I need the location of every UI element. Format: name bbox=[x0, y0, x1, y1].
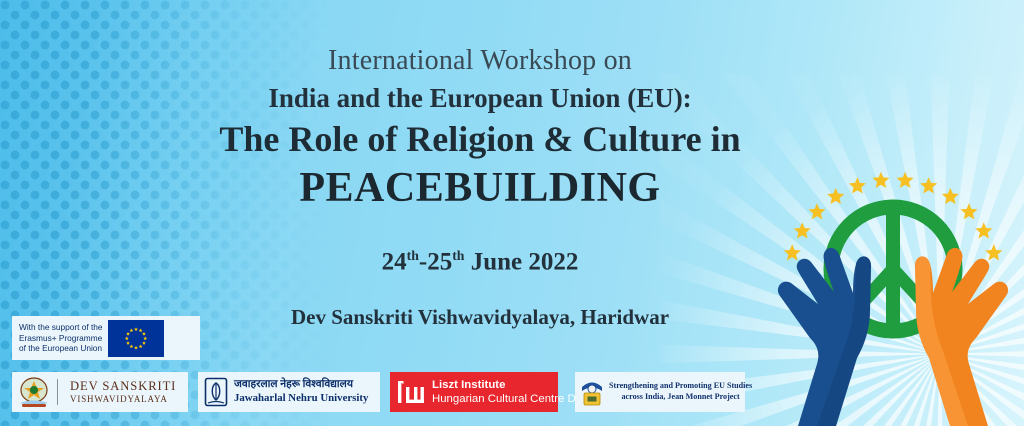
eu-support-line2: Erasmus+ Programme bbox=[19, 333, 102, 344]
emphasis-title: PEACEBUILDING bbox=[120, 163, 840, 213]
date-day-start: 24 bbox=[382, 248, 407, 275]
dev-sanskriti-logo: DEV SANSKRITI VISHWAVIDYALAYA bbox=[12, 372, 188, 412]
event-venue: Dev Sanskriti Vishwavidyalaya, Haridwar bbox=[120, 305, 840, 330]
eu-support-line1: With the support of the bbox=[19, 322, 102, 333]
jnu-text: जवाहरलाल नेहरू विश्वविद्यालय Jawaharlal … bbox=[234, 378, 368, 405]
headline-block: International Workshop on India and the … bbox=[120, 46, 840, 214]
pre-title: International Workshop on bbox=[120, 46, 840, 76]
jnu-line2-english: Jawaharlal Nehru University bbox=[234, 392, 368, 405]
logo-divider bbox=[57, 379, 58, 405]
liszt-text: Liszt Institute Hungarian Cultural Centr… bbox=[432, 378, 593, 407]
eu-support-badge: With the support of the Erasmus+ Program… bbox=[12, 316, 200, 360]
jean-monnet-emblem-icon bbox=[579, 377, 605, 407]
date-month-year: June 2022 bbox=[464, 248, 578, 275]
jean-monnet-line2: across India, Jean Monnet Project bbox=[609, 392, 752, 403]
orange-open-hand-icon bbox=[915, 248, 1008, 426]
event-date: 24th-25th June 2022 bbox=[120, 248, 840, 276]
dev-sanskriti-line1: DEV SANSKRITI bbox=[70, 379, 176, 393]
jnu-emblem-icon bbox=[203, 376, 229, 408]
eu-flag-icon bbox=[108, 320, 164, 357]
workshop-banner: International Workshop on India and the … bbox=[0, 0, 1024, 426]
liszt-institute-logo: Liszt Institute Hungarian Cultural Centr… bbox=[390, 372, 558, 412]
dev-sanskriti-text: DEV SANSKRITI VISHWAVIDYALAYA bbox=[64, 379, 176, 404]
jean-monnet-logo: Strengthening and Promoting EU Studies a… bbox=[575, 372, 745, 412]
liszt-monogram-icon bbox=[396, 379, 426, 405]
dev-sanskriti-emblem-icon bbox=[17, 376, 51, 408]
main-title: The Role of Religion & Culture in bbox=[120, 118, 840, 161]
date-day-end-suffix: th bbox=[452, 248, 464, 263]
peace-sign-icon bbox=[831, 207, 955, 331]
subtitle: India and the European Union (EU): bbox=[120, 82, 840, 116]
jnu-logo: जवाहरलाल नेहरू विश्वविद्यालय Jawaharlal … bbox=[198, 372, 380, 412]
date-day-start-suffix: th bbox=[407, 248, 419, 263]
dev-sanskriti-line2: VISHWAVIDYALAYA bbox=[70, 394, 176, 405]
jean-monnet-line1: Strengthening and Promoting EU Studies bbox=[609, 381, 752, 392]
jnu-line1-hindi: जवाहरलाल नेहरू विश्वविद्यालय bbox=[234, 378, 368, 392]
eu-support-line3: of the European Union bbox=[19, 343, 102, 354]
jean-monnet-text: Strengthening and Promoting EU Studies a… bbox=[609, 381, 752, 403]
date-day-end: 25 bbox=[427, 248, 452, 275]
eu-support-text: With the support of the Erasmus+ Program… bbox=[16, 322, 102, 355]
liszt-line2: Hungarian Cultural Centre Delhi bbox=[432, 392, 593, 406]
liszt-line1: Liszt Institute bbox=[432, 378, 593, 392]
date-separator: - bbox=[419, 248, 427, 275]
